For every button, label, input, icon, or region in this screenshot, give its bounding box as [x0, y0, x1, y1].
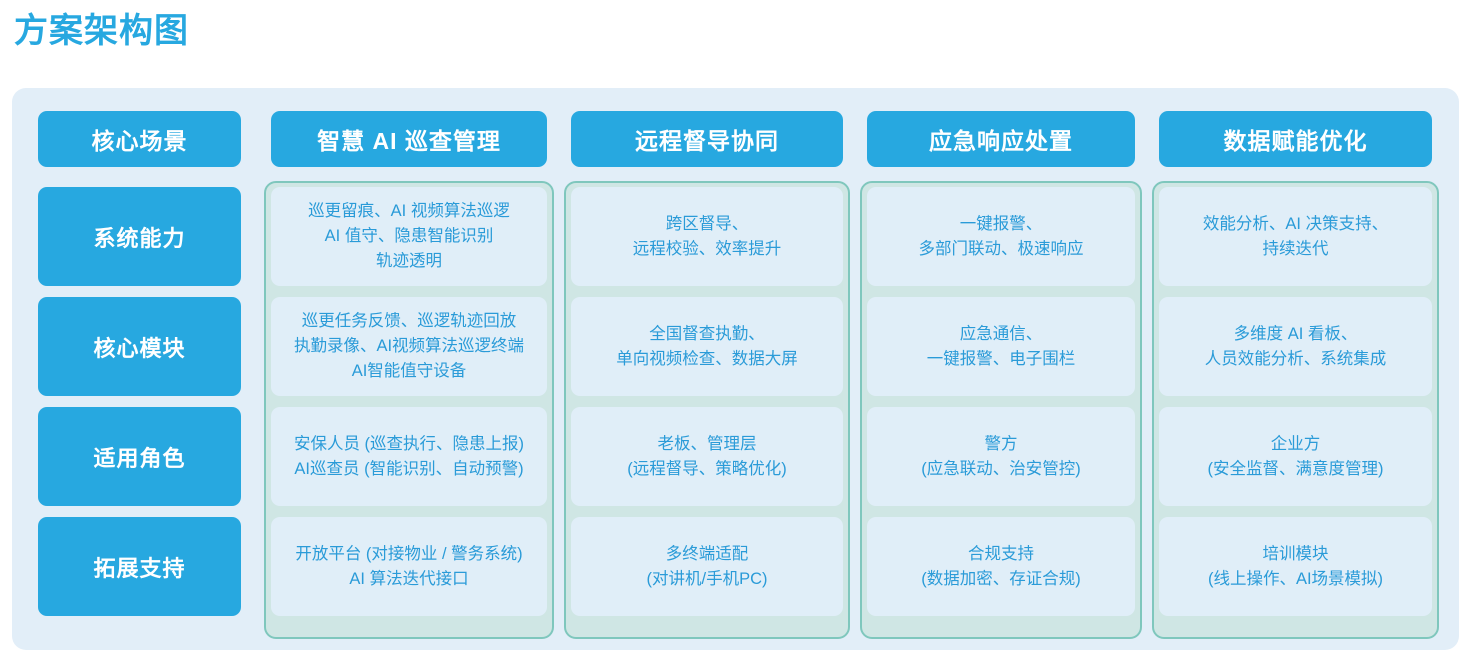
- row-label-applicable-role[interactable]: 适用角色: [38, 407, 241, 506]
- page-title: 方案架构图: [0, 0, 1471, 53]
- cell-expansion-support-data-optimization: 培训模块 (线上操作、AI场景模拟): [1159, 517, 1432, 616]
- header-data-optimization[interactable]: 数据赋能优化: [1159, 111, 1432, 167]
- cell-applicable-role-data-optimization: 企业方 (安全监督、满意度管理): [1159, 407, 1432, 506]
- row-label-core-module[interactable]: 核心模块: [38, 297, 241, 396]
- cell-core-module-emergency-response: 应急通信、 一键报警、电子围栏: [867, 297, 1135, 396]
- cell-system-capability-emergency-response: 一键报警、 多部门联动、极速响应: [867, 187, 1135, 286]
- architecture-grid: 核心场景 智慧 AI 巡查管理 远程督导协同 应急响应处置 数据赋能优化 系统能…: [12, 88, 1459, 650]
- header-core-scenario[interactable]: 核心场景: [38, 111, 241, 167]
- header-emergency-response[interactable]: 应急响应处置: [867, 111, 1135, 167]
- header-smart-ai-patrol[interactable]: 智慧 AI 巡查管理: [271, 111, 547, 167]
- header-remote-supervision[interactable]: 远程督导协同: [571, 111, 843, 167]
- cell-applicable-role-remote-supervision: 老板、管理层 (远程督导、策略优化): [571, 407, 843, 506]
- cell-system-capability-smart-ai-patrol: 巡更留痕、AI 视频算法巡逻 AI 值守、隐患智能识别 轨迹透明: [271, 187, 547, 286]
- row-label-expansion-support[interactable]: 拓展支持: [38, 517, 241, 616]
- cell-applicable-role-emergency-response: 警方 (应急联动、治安管控): [867, 407, 1135, 506]
- cell-system-capability-remote-supervision: 跨区督导、 远程校验、效率提升: [571, 187, 843, 286]
- row-label-system-capability[interactable]: 系统能力: [38, 187, 241, 286]
- cell-expansion-support-emergency-response: 合规支持 (数据加密、存证合规): [867, 517, 1135, 616]
- cell-core-module-data-optimization: 多维度 AI 看板、 人员效能分析、系统集成: [1159, 297, 1432, 396]
- cell-core-module-remote-supervision: 全国督查执勤、 单向视频检查、数据大屏: [571, 297, 843, 396]
- cell-core-module-smart-ai-patrol: 巡更任务反馈、巡逻轨迹回放 执勤录像、AI视频算法巡逻终端 AI智能值守设备: [271, 297, 547, 396]
- architecture-board: 核心场景 智慧 AI 巡查管理 远程督导协同 应急响应处置 数据赋能优化 系统能…: [12, 88, 1459, 650]
- cell-system-capability-data-optimization: 效能分析、AI 决策支持、 持续迭代: [1159, 187, 1432, 286]
- cell-expansion-support-smart-ai-patrol: 开放平台 (对接物业 / 警务系统) AI 算法迭代接口: [271, 517, 547, 616]
- cell-applicable-role-smart-ai-patrol: 安保人员 (巡查执行、隐患上报) AI巡查员 (智能识别、自动预警): [271, 407, 547, 506]
- cell-expansion-support-remote-supervision: 多终端适配 (对讲机/手机PC): [571, 517, 843, 616]
